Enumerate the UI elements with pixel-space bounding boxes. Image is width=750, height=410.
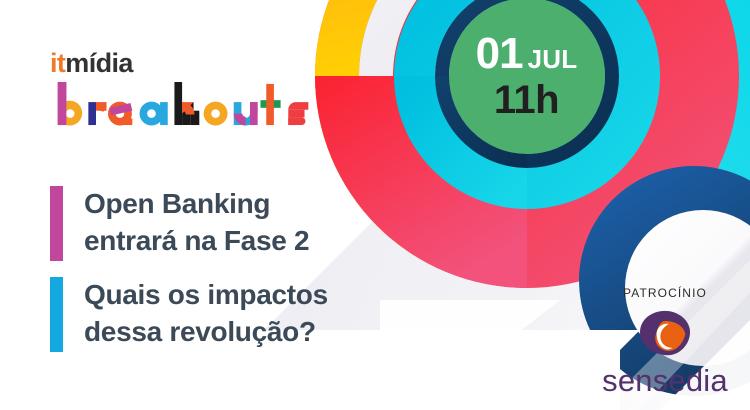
sponsor-label: PATROCÍNIO: [585, 286, 745, 300]
event-date-line: 01 JUL: [476, 32, 578, 76]
headline-accent-bar: [50, 186, 63, 261]
itmidia-it: it: [50, 48, 65, 78]
sponsor-block: PATROCÍNIO sensedia: [585, 286, 745, 396]
promo-banner: 01 JUL 11h itmídia: [0, 0, 750, 410]
breakouts-wordmark: [50, 82, 318, 126]
headline-row: Quais os impactos dessa revolução?: [50, 277, 328, 352]
sensedia-wordmark: sensedia: [585, 365, 745, 396]
headline-accent-bar: [50, 277, 63, 352]
itmidia-wordmark: itmídia: [50, 50, 318, 77]
event-day: 01: [476, 32, 523, 76]
content-column: itmídia: [0, 0, 430, 410]
brand-logo: itmídia: [50, 50, 318, 131]
headline-text: Quais os impactos dessa revolução?: [84, 277, 328, 351]
headline-text: Open Banking entrará na Fase 2: [84, 186, 309, 260]
itmidia-midia: mídia: [65, 48, 133, 78]
event-month: JUL: [528, 46, 578, 72]
sensedia-logo-icon: [636, 309, 694, 359]
event-time: 11h: [494, 80, 559, 120]
headline-row: Open Banking entrará na Fase 2: [50, 186, 309, 261]
event-date-badge: 01 JUL 11h: [455, 4, 598, 147]
